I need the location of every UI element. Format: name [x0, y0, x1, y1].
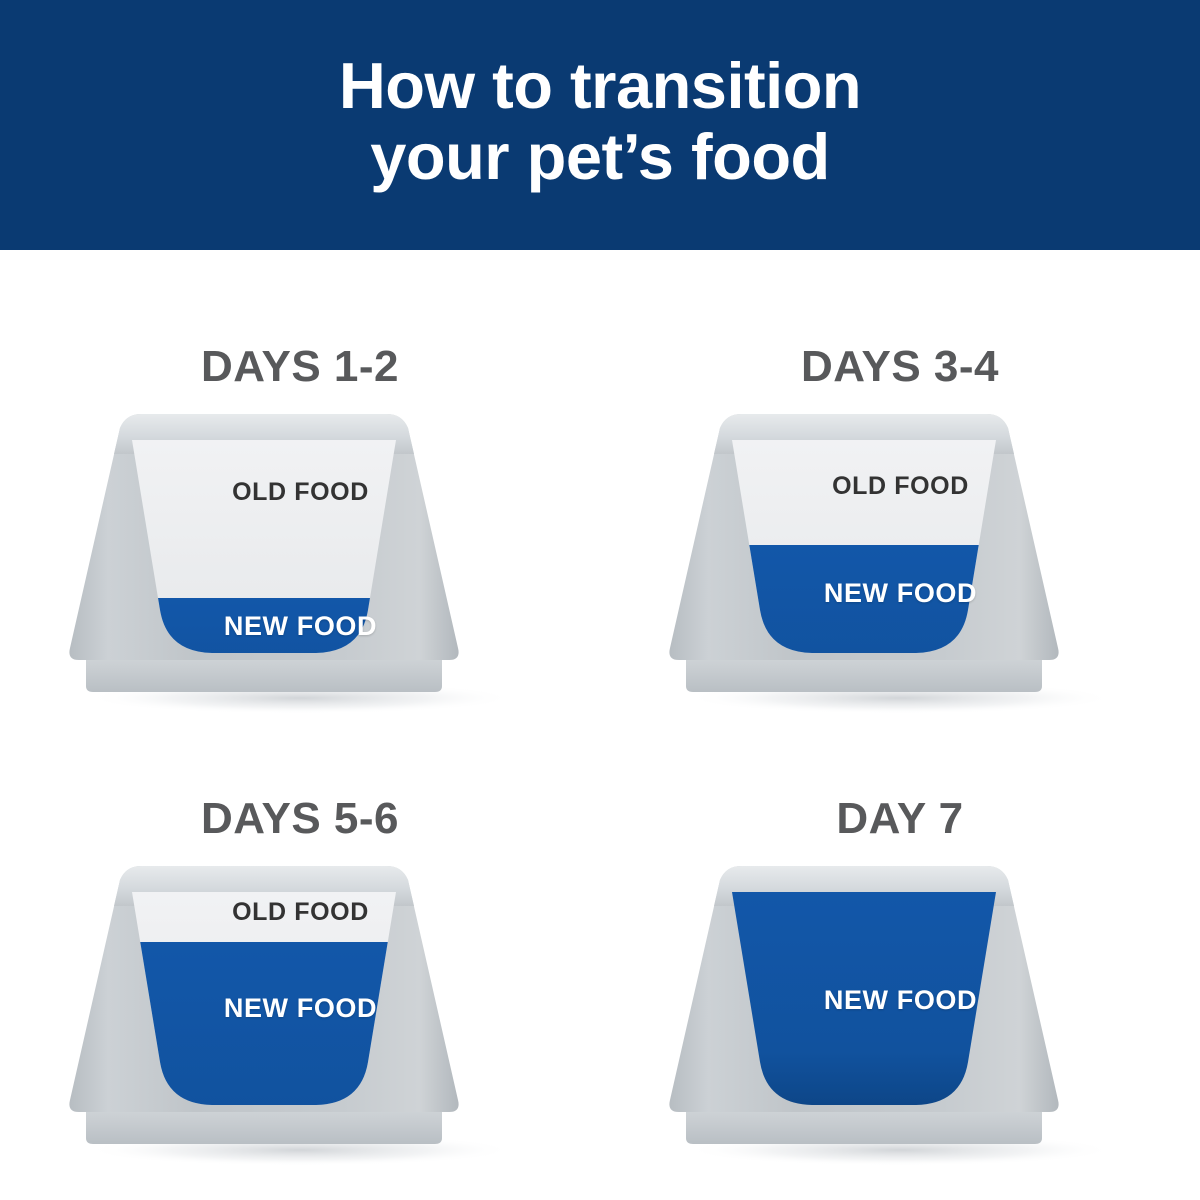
transition-step-2: DAYS 3-4 [600, 250, 1200, 725]
page-title-line-1: How to transition [339, 49, 861, 122]
food-bowl-4: NEW FOOD [628, 850, 1173, 1170]
transition-steps-grid: DAYS 1-2 [0, 250, 1200, 1200]
bowl-graphic-3 [28, 850, 573, 1170]
bowl-graphic-2 [628, 398, 1173, 718]
header-banner: How to transition your pet’s food [0, 0, 1200, 250]
food-bowl-1: OLD FOOD NEW FOOD [28, 398, 573, 718]
step-day-label-4: DAY 7 [600, 794, 1200, 844]
new-food-fill [732, 892, 996, 1105]
infographic-page: How to transition your pet’s food DAYS 1… [0, 0, 1200, 1200]
page-title-line-2: your pet’s food [339, 122, 861, 193]
food-bowl-3: OLD FOOD NEW FOOD [28, 850, 573, 1170]
food-bowl-2: OLD FOOD NEW FOOD [628, 398, 1173, 718]
bowl-graphic-1 [28, 398, 573, 718]
transition-step-3: DAYS 5-6 [0, 702, 600, 1177]
transition-step-4: DAY 7 [600, 702, 1200, 1177]
page-title: How to transition your pet’s food [339, 51, 861, 199]
step-day-label-1: DAYS 1-2 [0, 342, 600, 392]
bowl-graphic-4 [628, 850, 1173, 1170]
transition-step-1: DAYS 1-2 [0, 250, 600, 725]
step-day-label-3: DAYS 5-6 [0, 794, 600, 844]
step-day-label-2: DAYS 3-4 [600, 342, 1200, 392]
